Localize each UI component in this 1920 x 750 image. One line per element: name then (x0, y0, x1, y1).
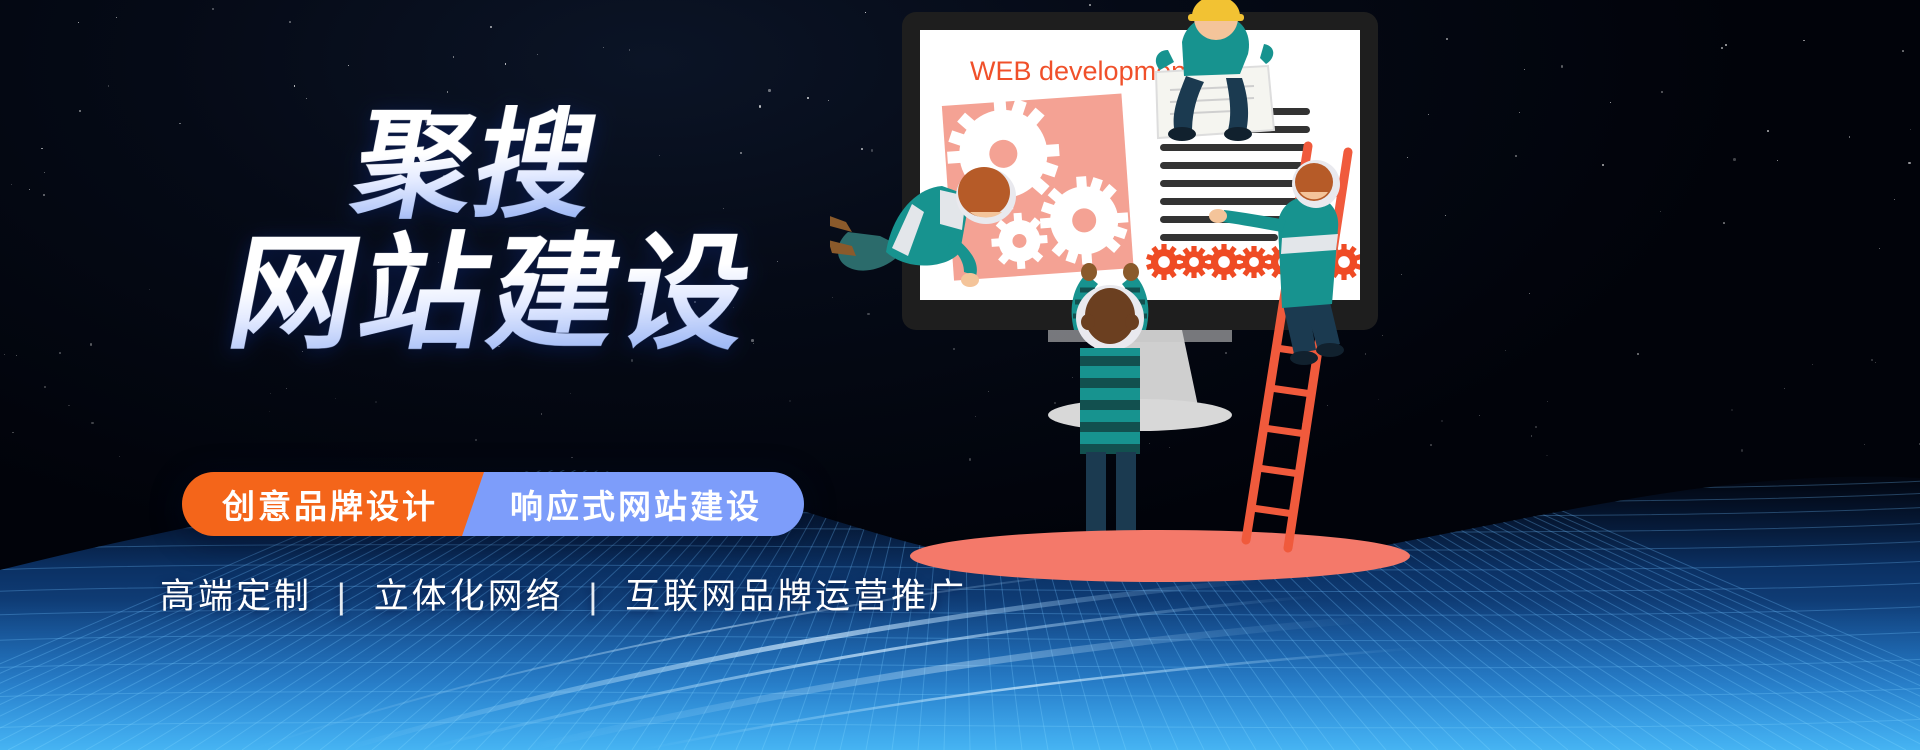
brand-title: 聚搜 (344, 105, 608, 229)
tagline-part-1: 高端定制 (160, 577, 312, 616)
tagline-part-2: 立体化网络 (374, 577, 564, 616)
page-title: 网站建设 (219, 228, 765, 360)
badge-creative-brand-design[interactable]: 创意品牌设计 (182, 472, 484, 536)
web-development-illustration: WEB development (830, 0, 1470, 750)
tagline-separator-1: | (337, 577, 349, 617)
tagline-separator-2: | (588, 577, 600, 617)
badge-responsive-web-build[interactable]: 响应式网站建设 (462, 472, 804, 536)
worker-front (1072, 263, 1149, 557)
headline-block: 聚搜 网站建设 创意品牌设计 响应式网站建设 高端定制 | 立体化网络 | 互联… (0, 0, 900, 750)
service-badges: 创意品牌设计 响应式网站建设 (182, 472, 804, 536)
ground-shadow (910, 530, 1410, 582)
badge-left-label: 创意品牌设计 (222, 480, 438, 528)
badge-right-label: 响应式网站建设 (510, 480, 762, 528)
banner-root: 聚搜 网站建设 创意品牌设计 响应式网站建设 高端定制 | 立体化网络 | 互联… (0, 0, 1920, 750)
